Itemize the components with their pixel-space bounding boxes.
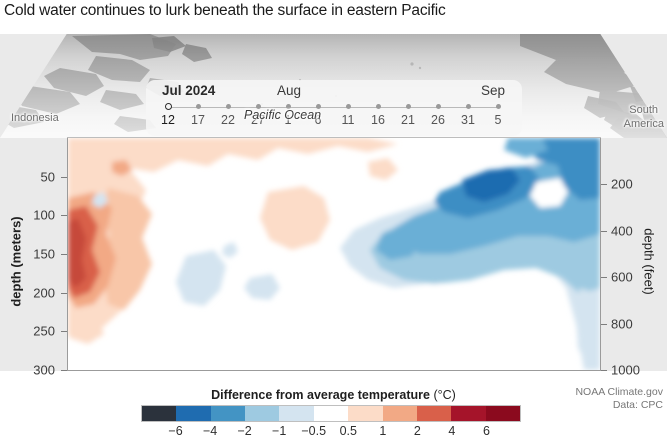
timeline-dot-5[interactable]: [496, 104, 501, 109]
left-axis-title: depth (meters): [9, 202, 24, 322]
right-tick-label-200: 200: [611, 177, 633, 192]
timeline-dot-21[interactable]: [406, 104, 411, 109]
timeline-dot-12[interactable]: [165, 103, 172, 110]
timeline-label-12[interactable]: 12: [161, 113, 175, 127]
left-tick-50: [61, 177, 67, 178]
colorbar-label--6: −6: [168, 424, 182, 438]
colorbar-title: Difference from average temperature (°C): [0, 388, 667, 402]
left-tick-100: [61, 215, 67, 216]
colorbar-label--2: −2: [237, 424, 251, 438]
left-tick-300: [61, 370, 67, 371]
colorbar-swatch-8: [417, 406, 451, 421]
colorbar-swatch-2: [211, 406, 245, 421]
timeline-axis-line: [168, 107, 498, 108]
page-title: Cold water continues to lurk beneath the…: [4, 2, 446, 20]
timeline-dot-1[interactable]: [286, 104, 291, 109]
timeline-month-sep: Sep: [481, 83, 505, 98]
timeline-dot-31[interactable]: [466, 104, 471, 109]
map-header: Jul 2024 Aug Sep 121722271611162126315: [0, 34, 667, 138]
right-tick-400: [601, 231, 607, 232]
timeline-label-27[interactable]: 27: [251, 113, 265, 127]
timeline-dot-17[interactable]: [196, 104, 201, 109]
colorbar-label--1: −1: [272, 424, 286, 438]
credit-source: NOAA Climate.gov: [575, 386, 663, 399]
colorbar-swatch-7: [383, 406, 417, 421]
timeline-month-jul: Jul 2024: [162, 83, 215, 98]
colorbar-swatch-6: [348, 406, 382, 421]
colorbar-unit: (°C): [433, 388, 455, 402]
colorbar-swatch-10: [486, 406, 520, 421]
timeline-label-6[interactable]: 6: [315, 113, 322, 127]
timeline-month-aug: Aug: [277, 83, 301, 98]
timeline-dot-26[interactable]: [436, 104, 441, 109]
timeline-dot-6[interactable]: [316, 104, 321, 109]
timeline-label-11[interactable]: 11: [342, 113, 355, 127]
left-tick-150: [61, 254, 67, 255]
colorbar-swatches: [141, 405, 521, 422]
timeline-label-1[interactable]: 1: [285, 113, 292, 127]
anomaly-contours: [68, 138, 600, 370]
timeline-label-22[interactable]: 22: [221, 113, 235, 127]
colorbar-title-text: Difference from average temperature: [211, 388, 430, 402]
temperature-anomaly-plot: [68, 138, 601, 371]
left-tick-label-300: 300: [33, 363, 55, 378]
timeline-label-5[interactable]: 5: [495, 113, 502, 127]
timeline-label-16[interactable]: 16: [371, 113, 385, 127]
left-tick-label-100: 100: [33, 208, 55, 223]
timeline-label-17[interactable]: 17: [191, 113, 205, 127]
timeline-dot-22[interactable]: [226, 104, 231, 109]
colorbar-swatch-1: [176, 406, 210, 421]
left-tick-200: [61, 293, 67, 294]
right-tick-1000: [601, 370, 607, 371]
left-tick-label-250: 250: [33, 324, 55, 339]
right-tick-800: [601, 324, 607, 325]
left-tick-label-150: 150: [33, 247, 55, 262]
right-tick-label-1000: 1000: [611, 363, 640, 378]
colorbar-swatch-5: [314, 406, 348, 421]
credit-data: Data: CPC: [575, 399, 663, 412]
colorbar-swatch-3: [245, 406, 279, 421]
colorbar-label--4: −4: [203, 424, 217, 438]
right-tick-label-600: 600: [611, 270, 633, 285]
timeline-label-21[interactable]: 21: [401, 113, 415, 127]
colorbar-swatch-0: [142, 406, 176, 421]
left-tick-label-50: 50: [41, 169, 55, 184]
left-tick-label-200: 200: [33, 285, 55, 300]
timeline-dot-16[interactable]: [376, 104, 381, 109]
colorbar-swatch-4: [279, 406, 313, 421]
right-tick-label-800: 800: [611, 316, 633, 331]
right-tick-label-400: 400: [611, 223, 633, 238]
colorbar-label--0.5: −0.5: [301, 424, 326, 438]
timeline-label-31[interactable]: 31: [461, 113, 475, 127]
colorbar-swatch-9: [451, 406, 485, 421]
timeline-dot-27[interactable]: [256, 104, 261, 109]
credit-block: NOAA Climate.gov Data: CPC: [575, 386, 663, 412]
date-timeline[interactable]: Jul 2024 Aug Sep 121722271611162126315: [146, 80, 522, 136]
left-tick-250: [61, 331, 67, 332]
figure-root: Cold water continues to lurk beneath the…: [0, 0, 667, 444]
colorbar-label-4: 4: [448, 424, 455, 438]
colorbar-label-6: 6: [483, 424, 490, 438]
colorbar-label-1: 1: [379, 424, 386, 438]
timeline-label-26[interactable]: 26: [431, 113, 445, 127]
colorbar-label-0.5: 0.5: [340, 424, 357, 438]
timeline-dot-11[interactable]: [346, 104, 351, 109]
right-tick-200: [601, 184, 607, 185]
colorbar-label-2: 2: [414, 424, 421, 438]
right-tick-600: [601, 277, 607, 278]
right-axis-title: depth (feet): [642, 202, 657, 322]
colorbar-tick-labels: −6−4−2−1−0.50.51246: [141, 424, 521, 442]
